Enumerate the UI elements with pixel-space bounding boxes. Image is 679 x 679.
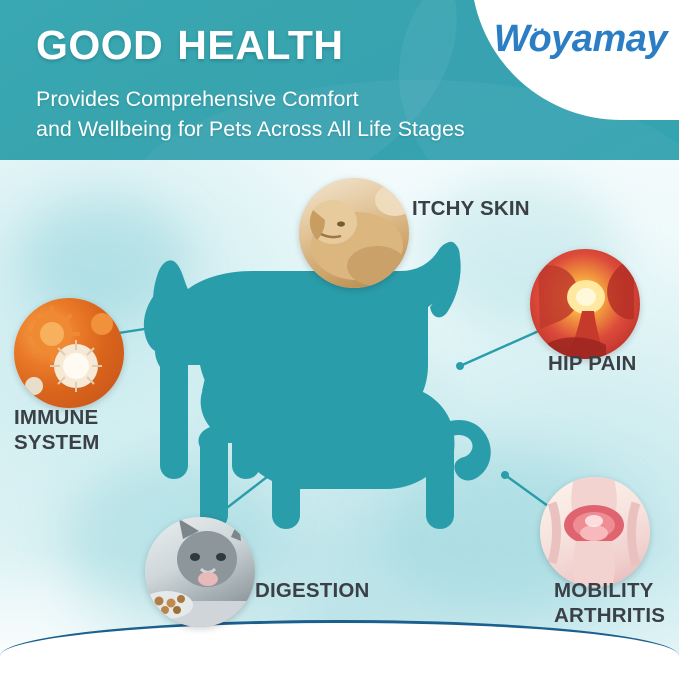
callout-label-hip-pain: HIP PAIN [548,351,637,376]
brand-umlaut: .. [534,16,547,36]
brand-name: Woyamay [494,18,667,60]
page-title-word-1: GOOD [36,22,163,68]
callout-image-digestion [145,517,255,627]
footer-divider [0,620,679,679]
page-title-word-2: HEALTH [177,22,343,68]
page-subtitle: Provides Comprehensive Comfort and Wellb… [36,84,465,144]
product-infographic: IMMUNE SYSTEM ITCHY SKIN HIP PAIN [0,0,679,679]
page-title: GOODHEALTH [36,22,344,69]
callout-image-immune-system [14,298,124,408]
page-subtitle-line-2: and Wellbeing for Pets Across All Life S… [36,114,465,144]
callout-label-itchy-skin: ITCHY SKIN [412,196,530,221]
brand-logo: Woyamay .. [494,18,667,61]
callout-label-mobility-arthritis: MOBILITY ARTHRITIS [554,578,665,628]
callout-label-digestion: DIGESTION [255,578,370,603]
page-subtitle-line-1: Provides Comprehensive Comfort [36,84,465,114]
callout-image-itchy-skin [299,178,409,288]
callout-label-immune-system: IMMUNE SYSTEM [14,405,154,455]
callout-image-hip-pain [530,249,640,359]
header-banner: Woyamay .. GOODHEALTH Provides Comprehen… [0,0,679,160]
callout-image-mobility-arthritis [540,477,650,587]
